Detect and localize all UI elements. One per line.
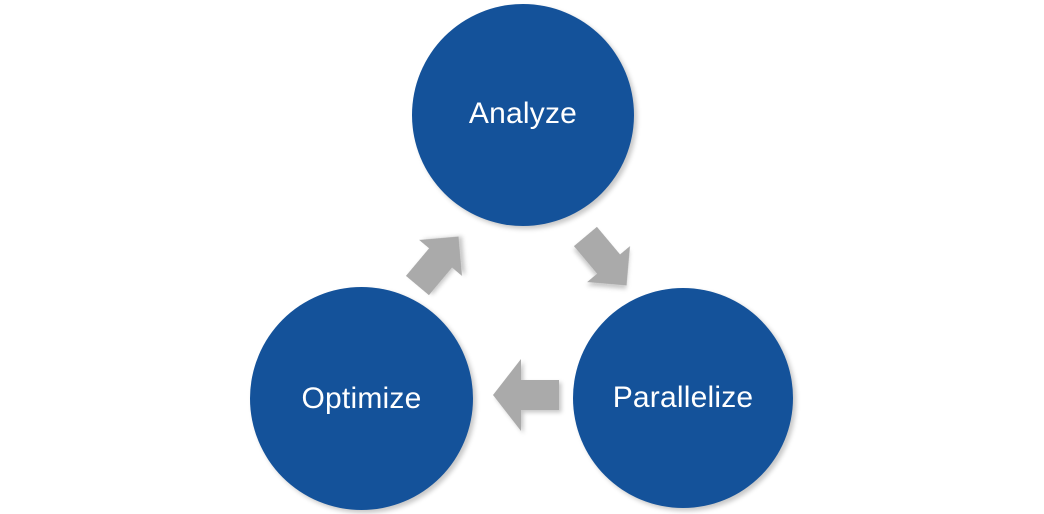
cycle-node-parallelize[interactable]: Parallelize <box>573 288 793 508</box>
block-arrow-up-right-icon <box>398 221 478 301</box>
cycle-node-analyze[interactable]: Analyze <box>412 4 634 226</box>
diagram-canvas: Analyze Parallelize Optimize <box>0 0 1044 514</box>
cycle-node-parallelize-label: Parallelize <box>613 383 754 413</box>
block-arrow-left-icon <box>487 353 567 437</box>
cycle-node-optimize[interactable]: Optimize <box>250 287 473 510</box>
block-arrow-down-right-icon <box>566 221 646 301</box>
cycle-node-optimize-label: Optimize <box>302 384 422 414</box>
cycle-node-analyze-label: Analyze <box>469 99 577 129</box>
